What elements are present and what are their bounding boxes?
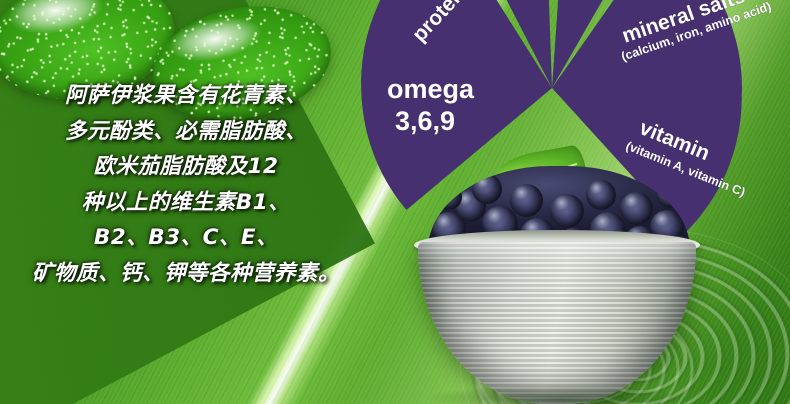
blueberry-bowl [398,160,718,404]
description-line-5: B2、B3、C、E、 [0,220,372,256]
berry [510,184,543,217]
bowl-body [418,242,696,404]
description-line-2: 多元酚类、必需脂肪酸、 [0,114,372,150]
berry [472,174,502,204]
berry [620,192,653,225]
description-line-4: 种以上的维生素B1、 [0,185,372,221]
banner-root: protein ive ate mineral salts (calcium, … [0,0,790,404]
berry [656,180,684,208]
description-line-3: 欧米茄脂肪酸及12 [0,149,372,185]
bowl-shadow [428,385,688,404]
description-line-6: 矿物质、钙、钾等各种营养素。 [0,256,372,292]
berry [550,194,584,228]
pie-label-omega-line1: omega [387,74,475,104]
pie-label-omega-line2: 3,6,9 [395,106,455,136]
product-description: 阿萨伊浆果含有花青素、 多元酚类、必需脂肪酸、 欧米茄脂肪酸及12 种以上的维生… [0,78,372,291]
berry [586,180,616,210]
description-line-1: 阿萨伊浆果含有花青素、 [0,78,372,114]
berry [436,184,462,210]
